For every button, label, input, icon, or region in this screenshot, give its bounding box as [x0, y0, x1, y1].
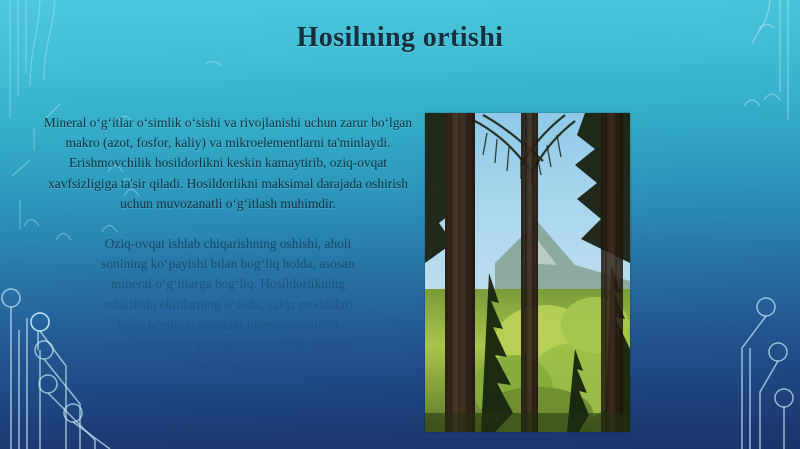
- body-paragraph-2-line: oshirilishi ekinlarning o‘sishi, oziqa m…: [42, 295, 414, 315]
- body-paragraph-2-line: Oziq-ovqat ishlab chiqarishning oshishi,…: [42, 234, 414, 254]
- forest-photo: [425, 113, 630, 432]
- presentation-slide: Hosilning ortishi Mineral o‘g‘itlar o‘si…: [0, 0, 800, 449]
- body-paragraph-2-line: sonining ko‘payishi bilan bog‘liq holda,…: [42, 254, 414, 274]
- body-paragraph-2: Oziq-ovqat ishlab chiqarishning oshishi,…: [42, 234, 414, 375]
- body-paragraph-2-line: jarayonlarini qo‘llab-quvvatlash bilan a…: [42, 335, 414, 355]
- body-paragraph-2-line: bilan ta'minot, fermalar intensivlashtir…: [42, 315, 414, 335]
- slide-title: Hosilning ortishi: [0, 22, 800, 54]
- body-paragraph-1: Mineral o‘g‘itlar o‘simlik o‘sishi va ri…: [42, 113, 414, 214]
- slide-body-text: Mineral o‘g‘itlar o‘simlik o‘sishi va ri…: [42, 113, 414, 375]
- body-paragraph-2-line: mineral o‘g‘itlarga bog‘liq. Hosildorlik…: [42, 274, 414, 294]
- body-paragraph-2-line: oshiriladi.: [42, 355, 414, 375]
